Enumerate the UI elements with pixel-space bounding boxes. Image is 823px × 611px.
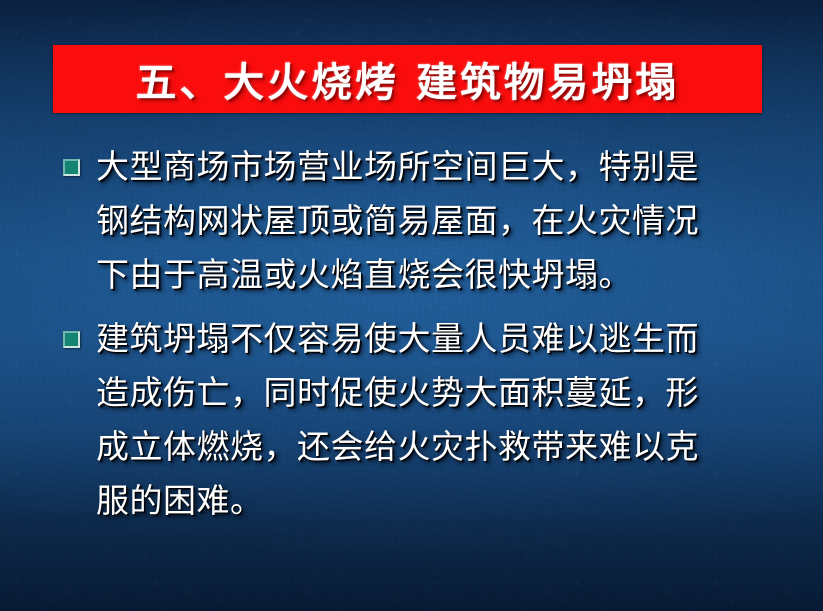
bullet-line: 造成伤亡，同时促使火势大面积蔓延，形 — [96, 366, 797, 420]
bullet-line: 服的困难。 — [96, 474, 797, 528]
square-bullet-icon — [63, 331, 80, 348]
bullet-line: 下由于高温或火焰直烧会很快坍塌。 — [96, 248, 797, 302]
bullet-line: 大型商场市场营业场所空间巨大，特别是 — [96, 140, 797, 194]
title-banner: 五、大火烧烤 建筑物易坍塌 — [53, 45, 762, 113]
bullet-line: 钢结构网状屋顶或简易屋面，在火灾情况 — [96, 194, 797, 248]
bullet-text-block: 建筑坍塌不仅容易使大量人员难以逃生而 造成伤亡，同时促使火势大面积蔓延，形 成立… — [96, 312, 797, 528]
square-bullet-icon — [63, 159, 80, 176]
bullet-text-block: 大型商场市场营业场所空间巨大，特别是 钢结构网状屋顶或简易屋面，在火灾情况 下由… — [96, 140, 797, 302]
bullet-line: 成立体燃烧，还会给火灾扑救带来难以克 — [96, 420, 797, 474]
slide-body: 大型商场市场营业场所空间巨大，特别是 钢结构网状屋顶或简易屋面，在火灾情况 下由… — [0, 140, 823, 528]
bullet-item: 大型商场市场营业场所空间巨大，特别是 钢结构网状屋顶或简易屋面，在火灾情况 下由… — [0, 140, 823, 302]
bullet-item: 建筑坍塌不仅容易使大量人员难以逃生而 造成伤亡，同时促使火势大面积蔓延，形 成立… — [0, 312, 823, 528]
bullet-line: 建筑坍塌不仅容易使大量人员难以逃生而 — [96, 312, 797, 366]
presentation-slide: 五、大火烧烤 建筑物易坍塌 大型商场市场营业场所空间巨大，特别是 钢结构网状屋顶… — [0, 0, 823, 611]
slide-title: 五、大火烧烤 建筑物易坍塌 — [136, 50, 680, 108]
